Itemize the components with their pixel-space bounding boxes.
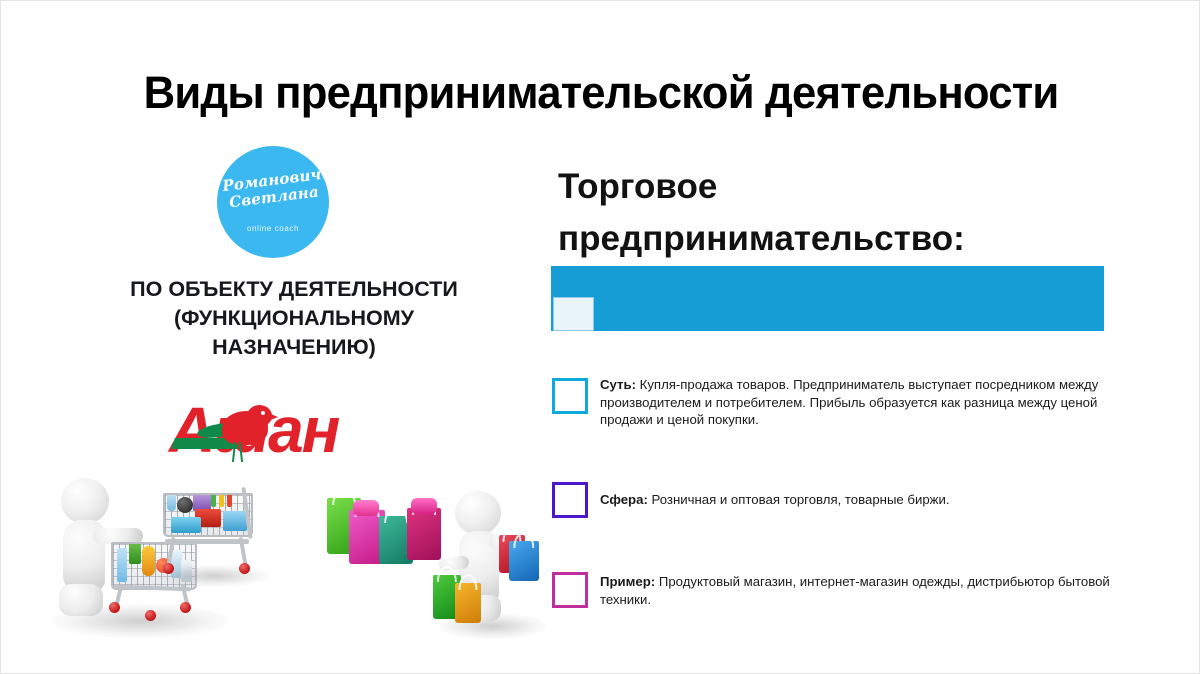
- slide-canvas: Виды предпринимательской деятельности Ро…: [0, 0, 1200, 674]
- section-title-line2: предпринимательство:: [558, 213, 1118, 265]
- shopping-bag-blue: [509, 541, 539, 581]
- shopper-with-bags-illustration: [433, 491, 553, 641]
- figure-head: [455, 491, 501, 535]
- loaded-shopping-cart-illustration: [153, 479, 273, 589]
- accent-banner-chip: [553, 297, 594, 331]
- shopping-cart-basket-icon: [163, 493, 253, 537]
- shopping-bag-orange: [455, 583, 481, 623]
- coach-logo-name: Романович Светлана: [217, 165, 329, 212]
- bullet-body: Купля-продажа товаров. Предприниматель в…: [600, 377, 1098, 427]
- bullet-item-sphere: Сфера: Розничная и оптовая торговля, тов…: [552, 482, 1112, 518]
- bullet-text: Суть: Купля-продажа товаров. Предпринима…: [600, 376, 1112, 429]
- figure-head: [61, 478, 109, 524]
- coach-logo-subtitle: online coach: [217, 224, 329, 233]
- bullet-text: Пример: Продуктовый магазин, интернет-ма…: [600, 573, 1112, 608]
- coach-logo-badge: Романович Светлана online coach: [217, 146, 329, 258]
- category-heading: ПО ОБЪЕКТУ ДЕЯТЕЛЬНОСТИ (ФУНКЦИОНАЛЬНОМУ…: [41, 275, 547, 362]
- category-heading-line1: ПО ОБЪЕКТУ ДЕЯТЕЛЬНОСТИ: [41, 275, 547, 304]
- cart-goods-item: [167, 493, 176, 511]
- auchan-bird-eye-icon: [261, 411, 265, 415]
- figure-legs: [59, 584, 103, 616]
- cart-wheel-icon: [180, 602, 191, 613]
- page-title: Виды предпринимательской деятельности: [19, 67, 1183, 119]
- section-title: Торговое предпринимательство:: [558, 161, 1118, 265]
- cart-goods-item: [211, 493, 216, 507]
- bullet-body: Продуктовый магазин, интернет-магазин од…: [600, 574, 1110, 607]
- cart-wheel-icon: [239, 563, 250, 574]
- section-title-line1: Торговое: [558, 161, 1118, 213]
- cart-goods-item: [129, 542, 141, 564]
- bullet-label: Пример:: [600, 574, 655, 589]
- cart-wheel-icon: [109, 602, 120, 613]
- cart-goods-item: [171, 517, 201, 533]
- bullet-text: Сфера: Розничная и оптовая торговля, тов…: [600, 491, 1112, 509]
- cart-wheel-icon: [145, 610, 156, 621]
- shopping-bags-illustration: [327, 488, 447, 568]
- bullet-marker-box: [552, 572, 588, 608]
- accent-banner: [551, 266, 1104, 331]
- bullet-body: Розничная и оптовая торговля, товарные б…: [648, 492, 950, 507]
- category-heading-line2: (ФУНКЦИОНАЛЬНОМУ: [41, 304, 547, 333]
- cart-frame: [165, 539, 249, 544]
- cart-goods-item: [117, 548, 127, 582]
- bullet-label: Сфера:: [600, 492, 648, 507]
- cart-goods-item: [177, 497, 193, 513]
- auchan-logo: Aшан: [169, 396, 409, 468]
- auchan-bird-beak-icon: [268, 413, 278, 421]
- bag-tissue: [353, 500, 379, 516]
- cart-goods-item: [223, 511, 247, 531]
- bullet-marker-box: [552, 482, 588, 518]
- bullet-item-example: Пример: Продуктовый магазин, интернет-ма…: [552, 572, 1112, 608]
- cart-goods-item: [227, 493, 232, 507]
- category-heading-line3: НАЗНАЧЕНИЮ): [41, 333, 547, 362]
- bullet-item-essence: Суть: Купля-продажа товаров. Предпринима…: [552, 378, 1112, 429]
- bullet-label: Суть:: [600, 377, 636, 392]
- bullet-marker-box: [552, 378, 588, 414]
- cart-wheel-icon: [163, 563, 174, 574]
- cart-goods-item: [219, 493, 224, 507]
